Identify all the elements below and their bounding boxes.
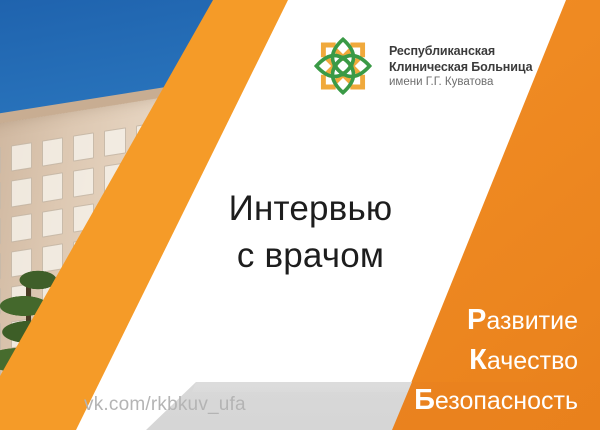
title-line-1: Интервью bbox=[168, 186, 453, 233]
logo-line-3: имени Г.Г. Куватова bbox=[389, 75, 532, 90]
logo-line-1: Республиканская bbox=[389, 43, 532, 59]
slogan-rest: ачество bbox=[487, 347, 578, 375]
slogan-initial: Б bbox=[414, 384, 435, 416]
slogan-initial: Р bbox=[467, 304, 486, 336]
logo-line-2: Клиническая Больница bbox=[389, 59, 532, 75]
rkb-flower-logo-icon bbox=[308, 31, 378, 101]
slide-canvas: Республиканская Клиническая Больница име… bbox=[0, 0, 600, 430]
vk-url-label: vk.com/rkbkuv_ufa bbox=[84, 394, 246, 416]
slide-title: Интервью с врачом bbox=[168, 186, 453, 280]
slogan-initial: К bbox=[469, 344, 487, 376]
hospital-logo: Республиканская Клиническая Больница име… bbox=[308, 31, 532, 101]
slogan-line-bezopasnost: Безопасность bbox=[414, 380, 578, 420]
slogan-line-kachestvo: Качество bbox=[414, 340, 578, 380]
slogan-line-razvitie: Развитие bbox=[414, 300, 578, 340]
title-line-2: с врачом bbox=[168, 233, 453, 280]
slogan-rest: азвитие bbox=[486, 307, 578, 335]
slogan-block: Развитие Качество Безопасность bbox=[414, 300, 578, 420]
logo-text-block: Республиканская Клиническая Больница име… bbox=[389, 43, 532, 90]
slogan-rest: езопасность bbox=[435, 387, 578, 415]
